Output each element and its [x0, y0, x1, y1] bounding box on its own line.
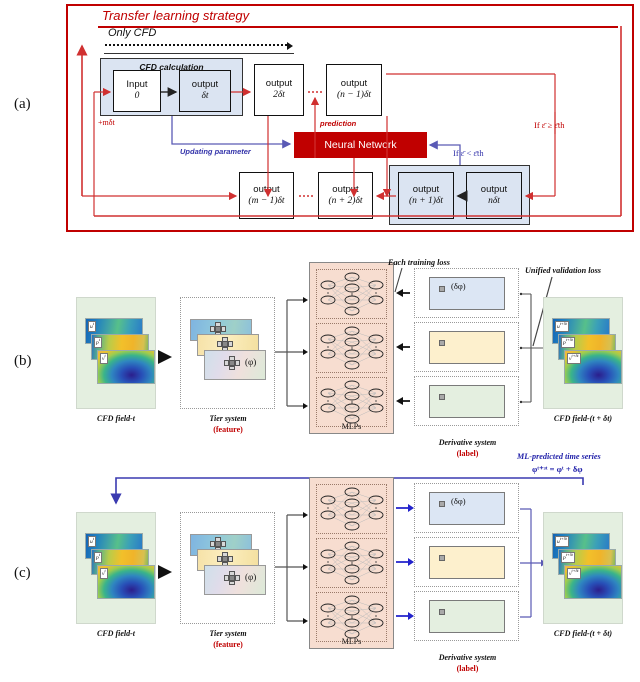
deriv-cell-3-c — [414, 591, 519, 641]
deriv-square-icon-2-c — [439, 555, 445, 561]
deriv-inner-2-c — [429, 546, 505, 579]
stencil-cross-icon-2-c — [217, 552, 233, 565]
deriv-inner-3-c — [429, 600, 505, 633]
tier-system-c: (φ) — [180, 512, 275, 624]
mlp-networks-c — [310, 478, 395, 650]
stencil-cross-icon-3-c — [224, 571, 240, 584]
caption-tier-system-c: Tier system — [178, 629, 278, 638]
field-tag-v-t-b: vt — [100, 353, 108, 364]
field-tag-p-tdt-c: pt+δt — [561, 552, 575, 563]
field-card-v-tdt-c: vt+δt — [564, 565, 622, 599]
mlps-c: MLPs — [309, 477, 394, 649]
caption-tier-system-sub-c: (feature) — [178, 640, 278, 649]
deriv-square-icon-3-c — [439, 609, 445, 615]
deriv-cell-1-c: (δφ) — [414, 483, 519, 533]
field-tag-v-tdt-c: vt+δt — [567, 568, 581, 579]
field-tag-u-tdt-b: ut+δt — [555, 321, 569, 332]
deriv-square-icon-1-c — [439, 501, 445, 507]
caption-derivative-system-sub-c: (label) — [410, 664, 525, 673]
derivative-system-c: (δφ) — [414, 477, 519, 649]
arrow-field-to-tier-c — [158, 565, 178, 579]
field-tag-p-tdt-b: pt+δt — [561, 337, 575, 348]
delta-phi-label-c: (δφ) — [451, 496, 466, 506]
caption-mlps-c: MLPs — [310, 637, 393, 646]
field-tag-p-t-c: pt — [94, 552, 102, 563]
field-card-v-t-c: vt — [97, 565, 155, 599]
cfd-field-t-c: ut pt vt — [76, 512, 156, 624]
field-tag-u-tdt-c: ut+δt — [555, 536, 569, 547]
deriv-inner-1-c — [429, 492, 505, 525]
caption-derivative-system-c: Derivative system — [410, 653, 525, 662]
phi-label-c: (φ) — [245, 572, 256, 582]
bracket-tier-to-mlps-c — [273, 505, 313, 645]
cfd-field-t-dt-c: ut+δt pt+δt vt+δt — [543, 512, 623, 624]
field-tag-p-t-b: pt — [94, 337, 102, 348]
field-tag-v-tdt-b: vt+δt — [567, 353, 581, 364]
caption-cfd-field-t-c: CFD field-t — [76, 629, 156, 638]
caption-cfd-field-t-dt-c: CFD field-(t + δt) — [533, 629, 633, 638]
field-tag-u-t-c: ut — [88, 536, 96, 547]
deriv-cell-2-c — [414, 537, 519, 587]
field-tag-v-t-c: vt — [100, 568, 108, 579]
field-tag-u-t-b: ut — [88, 321, 96, 332]
